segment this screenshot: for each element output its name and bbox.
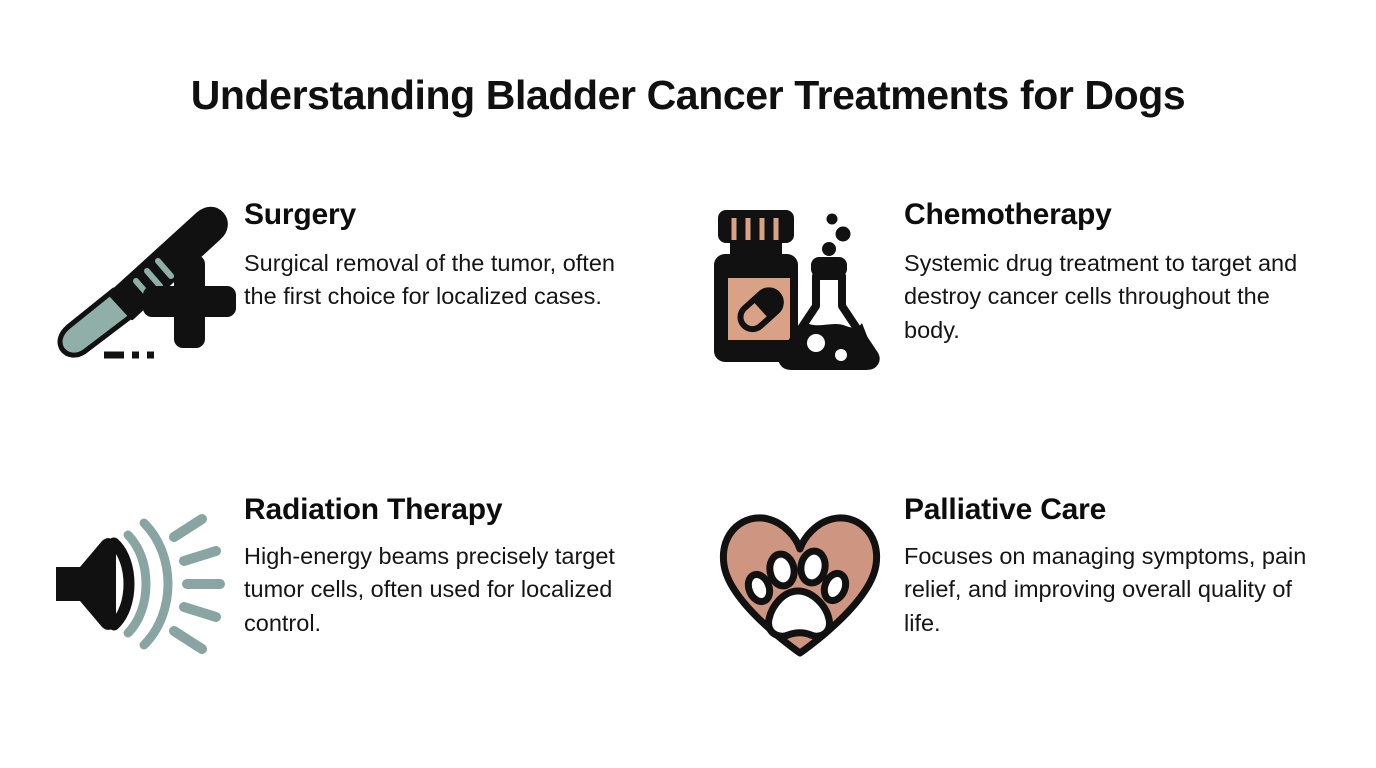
treatment-text: Chemotherapy Systemic drug treatment to … bbox=[904, 196, 1340, 347]
treatment-description: Systemic drug treatment to target and de… bbox=[904, 247, 1324, 347]
pill-bottle-flask-icon bbox=[700, 196, 900, 371]
treatment-card-radiation-therapy: Radiation Therapy High-energy beams prec… bbox=[40, 491, 700, 716]
infographic-page: Understanding Bladder Cancer Treatments … bbox=[0, 0, 1376, 768]
treatment-description: Surgical removal of the tumor, often the… bbox=[244, 247, 644, 314]
treatment-card-chemotherapy: Chemotherapy Systemic drug treatment to … bbox=[700, 196, 1340, 491]
treatment-title: Radiation Therapy bbox=[244, 493, 700, 526]
treatment-text: Palliative Care Focuses on managing symp… bbox=[904, 491, 1340, 640]
treatments-grid: Surgery Surgical removal of the tumor, o… bbox=[40, 196, 1340, 716]
heart-paw-icon bbox=[700, 491, 900, 651]
treatment-title: Palliative Care bbox=[904, 493, 1340, 526]
treatment-card-palliative-care: Palliative Care Focuses on managing symp… bbox=[700, 491, 1340, 716]
treatment-text: Surgery Surgical removal of the tumor, o… bbox=[244, 196, 700, 314]
scalpel-cross-icon bbox=[40, 196, 240, 371]
treatment-title: Surgery bbox=[244, 198, 700, 231]
page-title: Understanding Bladder Cancer Treatments … bbox=[0, 72, 1376, 119]
radiation-beam-icon bbox=[40, 491, 240, 651]
treatment-text: Radiation Therapy High-energy beams prec… bbox=[244, 491, 700, 640]
treatment-description: High-energy beams precisely target tumor… bbox=[244, 540, 664, 640]
treatment-title: Chemotherapy bbox=[904, 198, 1340, 231]
treatment-description: Focuses on managing symptoms, pain relie… bbox=[904, 540, 1324, 640]
treatment-card-surgery: Surgery Surgical removal of the tumor, o… bbox=[40, 196, 700, 491]
